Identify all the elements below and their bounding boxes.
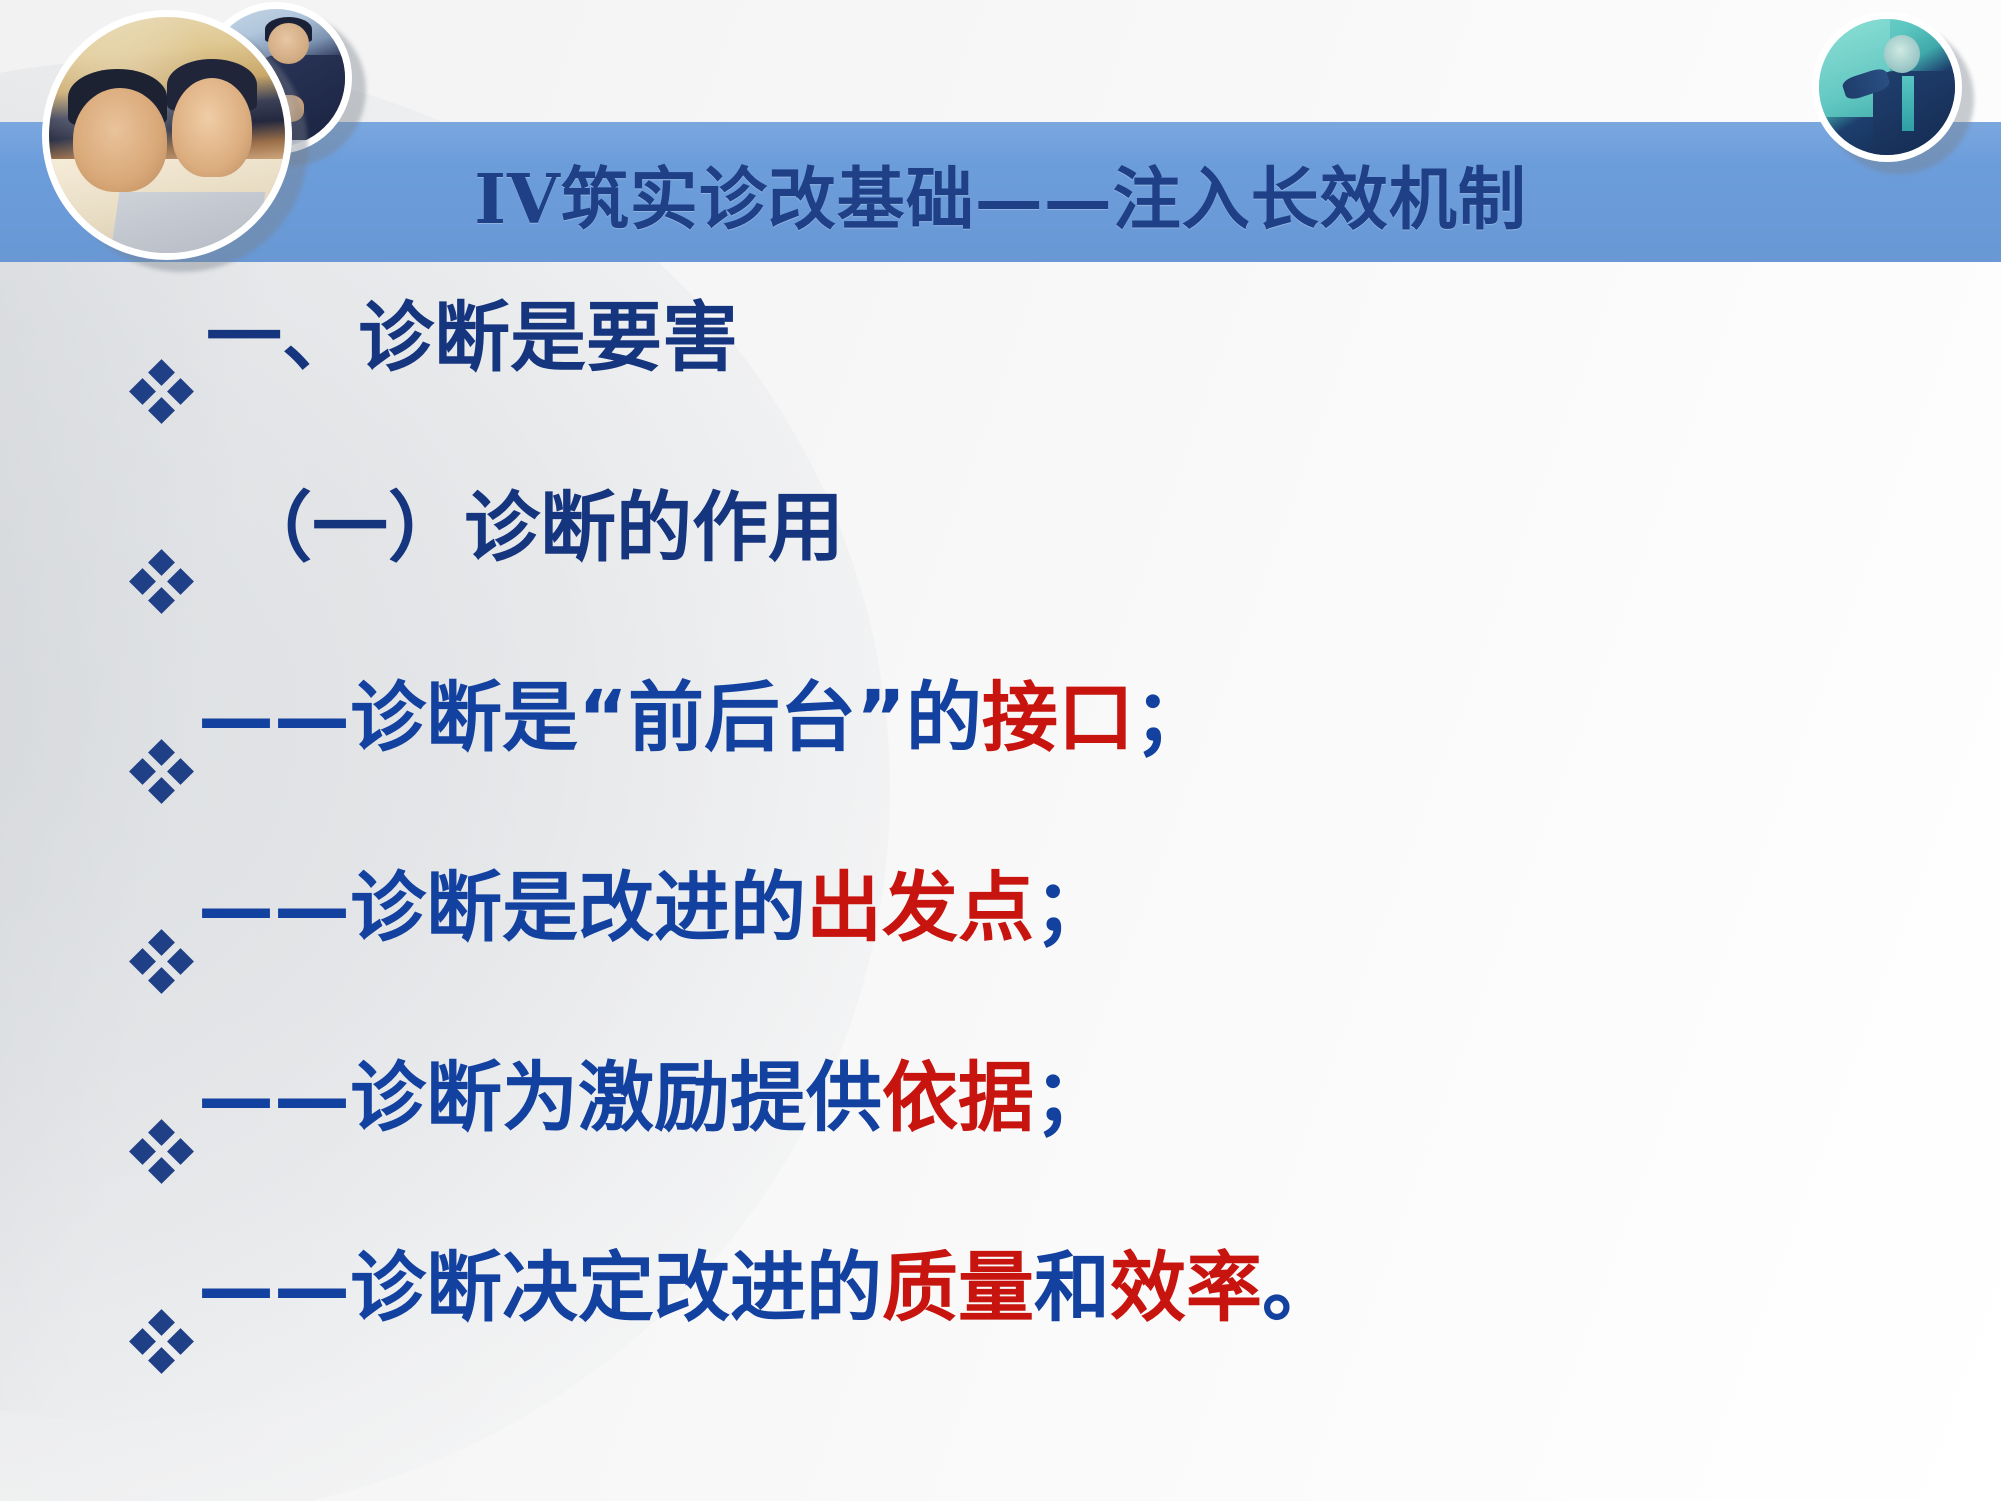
diamond-bullet-icon <box>128 1120 198 1190</box>
body-text: 。 <box>1262 1243 1338 1332</box>
bullet-text: ——诊断为激励提供依据； <box>198 1060 1110 1136</box>
bullet-item: ——诊断是“前后台”的接口； <box>0 680 2001 870</box>
team-photo <box>42 10 292 260</box>
presenter-photo-head <box>1884 35 1919 73</box>
bullet-text: ——诊断决定改进的质量和效率。 <box>198 1250 1338 1326</box>
bullet-text: （一）诊断的作用 <box>236 490 844 566</box>
highlighted-text: 依据 <box>882 1053 1034 1142</box>
bullet-item: ——诊断决定改进的质量和效率。 <box>0 1250 2001 1440</box>
body-text: ； <box>1134 673 1210 762</box>
handshake-photo-head <box>268 23 309 64</box>
bullet-item: ——诊断为激励提供依据； <box>0 1060 2001 1250</box>
diamond-bullet-icon <box>128 740 198 810</box>
body-text: 一、诊断是要害 <box>206 293 738 382</box>
team-photo-face-left <box>73 88 167 192</box>
highlighted-text: 效率 <box>1110 1243 1262 1332</box>
bullet-text: ——诊断是“前后台”的接口； <box>198 680 1210 756</box>
diamond-bullet-icon <box>128 360 198 430</box>
bullet-item: 一、诊断是要害 <box>0 300 2001 490</box>
diamond-bullet-icon <box>128 930 198 1000</box>
highlighted-text: 出发点 <box>806 863 1034 952</box>
presenter-photo-tie <box>1902 76 1914 130</box>
body-text: 和 <box>1034 1243 1110 1332</box>
diamond-bullet-icon <box>128 1310 198 1380</box>
diamond-bullet-icon <box>128 550 198 620</box>
body-text: ——诊断决定改进的 <box>198 1243 882 1332</box>
highlighted-text: 质量 <box>882 1243 1034 1332</box>
slide-body: 一、诊断是要害 （一）诊断的作用 ——诊断是“前后台”的接口； ——诊断是改进的… <box>0 300 2001 1440</box>
body-text: ——诊断是“前后台”的 <box>198 673 982 762</box>
team-photo-laptop <box>111 192 266 253</box>
bullet-text: 一、诊断是要害 <box>206 300 738 376</box>
bullet-text: ——诊断是改进的出发点； <box>198 870 1110 946</box>
body-text: ——诊断是改进的 <box>198 863 806 952</box>
presentation-slide: IV筑实诊改基础——注入长效机制 一、诊断是要害 <box>0 0 2001 1501</box>
highlighted-text: 接口 <box>982 673 1134 762</box>
team-photo-face-right <box>172 78 252 177</box>
body-text: ——诊断为激励提供 <box>198 1053 882 1142</box>
body-text: （一）诊断的作用 <box>236 483 844 572</box>
bullet-item: ——诊断是改进的出发点； <box>0 870 2001 1060</box>
body-text: ； <box>1034 1053 1110 1142</box>
bullet-item: （一）诊断的作用 <box>0 490 2001 680</box>
body-text: ； <box>1034 863 1110 952</box>
presenter-photo <box>1812 12 1962 162</box>
